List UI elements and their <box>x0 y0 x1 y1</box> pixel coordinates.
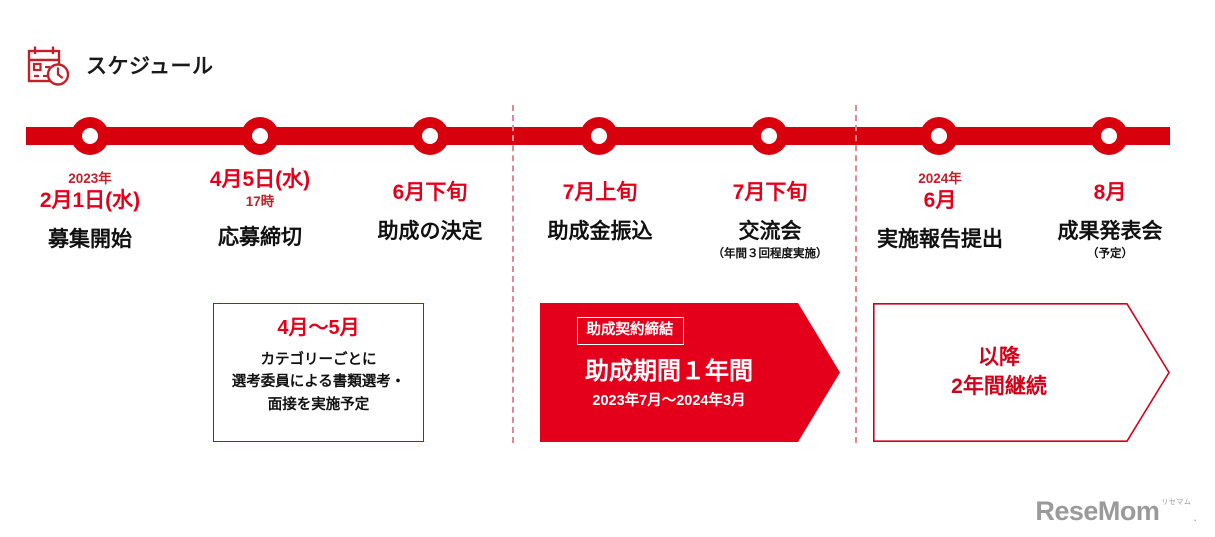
calendar-clock-icon <box>26 44 72 88</box>
continuation-arrow: 以降 2年間継続 <box>873 303 1170 442</box>
timeline-node-2 <box>241 117 279 155</box>
continuation-line-1: 以降 <box>951 344 1047 372</box>
timeline-node-1 <box>71 117 109 155</box>
milestone-time: 17時 <box>180 193 340 211</box>
watermark-text: ReseMom <box>1035 498 1159 525</box>
timeline-node-7 <box>1090 117 1128 155</box>
milestone-2: 4月5日(水) 17時 応募締切 <box>180 168 340 250</box>
milestone-label: 助成金振込 <box>520 219 680 244</box>
milestone-date: 6月 <box>860 189 1020 213</box>
page-title: スケジュール <box>86 56 214 77</box>
timeline-node-4 <box>580 117 618 155</box>
milestone-date: 8月 <box>1030 181 1190 205</box>
milestone-label: 応募締切 <box>180 225 340 250</box>
screening-line-1: カテゴリーごとに <box>232 349 406 371</box>
milestone-6: 2024年 6月 実施報告提出 <box>860 171 1020 252</box>
screening-line-3: 面接を実施予定 <box>232 394 406 416</box>
phase-divider-2 <box>855 105 857 443</box>
watermark-dot: . <box>1193 510 1197 523</box>
milestone-date: 2月1日(水) <box>10 189 170 213</box>
milestone-label: 募集開始 <box>10 227 170 252</box>
milestone-year: 2024年 <box>860 171 1020 188</box>
milestone-5: 7月下旬 交流会 （年間３回程度実施） <box>690 181 850 262</box>
grant-period-arrow: 助成契約締結 助成期間１年間 2023年7月〜2024年3月 <box>540 303 840 442</box>
grant-period-range: 2023年7月〜2024年3月 <box>592 394 745 410</box>
resemom-watermark: ReseMom リセマム . <box>1035 498 1197 525</box>
schedule-diagram: スケジュール 2023年 2月1日(水) 募集開始 4月5日(水) 17時 応募… <box>0 0 1215 537</box>
watermark-ruby: リセマム <box>1161 499 1191 506</box>
header: スケジュール <box>26 44 214 88</box>
milestone-date: 6月下旬 <box>350 181 510 205</box>
milestone-date: 7月上旬 <box>520 181 680 205</box>
milestone-note: （予定） <box>1030 248 1190 262</box>
milestone-date: 4月5日(水) <box>180 168 340 192</box>
timeline-node-5 <box>750 117 788 155</box>
milestone-label: 実施報告提出 <box>860 227 1020 252</box>
screening-description: カテゴリーごとに 選考委員による書類選考・ 面接を実施予定 <box>232 349 406 416</box>
milestone-label: 助成の決定 <box>350 219 510 244</box>
timeline-node-3 <box>411 117 449 155</box>
grant-contract-badge: 助成契約締結 <box>577 317 684 345</box>
phase-divider-1 <box>512 105 514 443</box>
continuation-line-2: 2年間継続 <box>951 373 1047 401</box>
timeline-node-6 <box>920 117 958 155</box>
continuation-label: 以降 2年間継続 <box>873 303 1125 442</box>
milestone-1: 2023年 2月1日(水) 募集開始 <box>10 171 170 252</box>
milestone-label: 交流会 <box>690 219 850 244</box>
milestone-3: 6月下旬 助成の決定 <box>350 181 510 244</box>
milestone-label: 成果発表会 <box>1030 219 1190 244</box>
milestone-note: （年間３回程度実施） <box>690 248 850 262</box>
milestone-date: 7月下旬 <box>690 181 850 205</box>
grant-period-title: 助成期間１年間 <box>585 359 753 385</box>
screening-box: 4月〜5月 カテゴリーごとに 選考委員による書類選考・ 面接を実施予定 <box>213 303 424 442</box>
screening-line-2: 選考委員による書類選考・ <box>232 371 406 393</box>
screening-period: 4月〜5月 <box>277 317 359 339</box>
milestone-year: 2023年 <box>10 171 170 188</box>
milestone-7: 8月 成果発表会 （予定） <box>1030 181 1190 262</box>
milestone-4: 7月上旬 助成金振込 <box>520 181 680 244</box>
